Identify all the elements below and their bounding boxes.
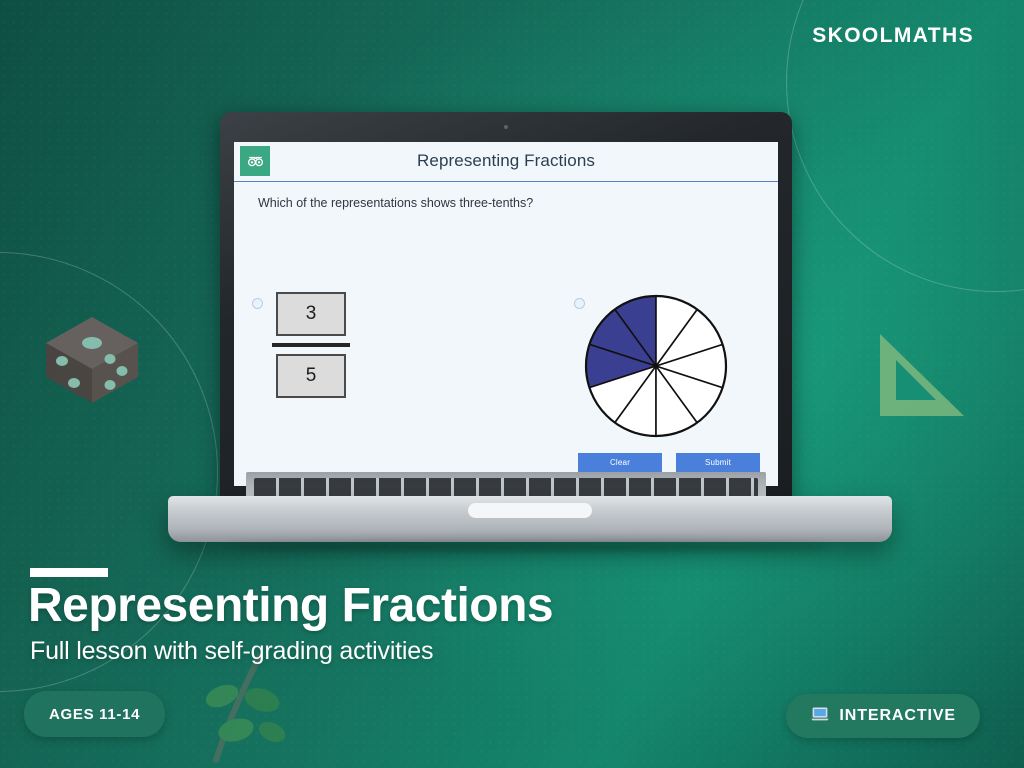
lesson-app: Representing Fractions Which of the repr… — [234, 142, 778, 486]
laptop-device: Representing Fractions Which of the repr… — [168, 112, 892, 560]
interactive-badge: INTERACTIVE — [786, 694, 980, 738]
app-header: Representing Fractions — [234, 142, 778, 182]
question-text: Which of the representations shows three… — [234, 182, 778, 210]
interactive-label: INTERACTIVE — [839, 707, 956, 725]
laptop-shadow — [230, 542, 830, 552]
title-accent-bar — [30, 568, 108, 577]
clear-button[interactable]: Clear — [578, 453, 662, 472]
laptop-lid: Representing Fractions Which of the repr… — [220, 112, 792, 502]
page-subtitle: Full lesson with self-grading activities — [30, 637, 433, 666]
app-title: Representing Fractions — [234, 151, 778, 171]
dice-icon — [36, 303, 148, 415]
app-action-buttons: Clear Submit — [578, 453, 760, 472]
laptop-screen: Representing Fractions Which of the repr… — [234, 142, 778, 486]
page-title: Representing Fractions — [28, 578, 553, 633]
fraction-divider-bar — [272, 343, 350, 347]
answer-options: 3 5 Clear Submit — [234, 210, 778, 486]
fraction-denominator-box: 5 — [276, 354, 346, 398]
age-range-badge: AGES 11-14 — [24, 691, 165, 737]
option-b-pie-chart[interactable] — [582, 292, 730, 440]
laptop-base-notch — [468, 503, 592, 518]
fraction-numerator-box: 3 — [276, 292, 346, 336]
brand-logo-text: SKOOLMATHS — [812, 24, 974, 48]
age-range-label: AGES 11-14 — [49, 706, 140, 723]
laptop-icon — [810, 704, 830, 729]
option-a-fraction[interactable]: 3 5 — [270, 292, 352, 398]
option-a-radio[interactable] — [252, 298, 263, 309]
laptop-base — [168, 496, 892, 542]
webcam-dot — [504, 125, 508, 129]
submit-button[interactable]: Submit — [676, 453, 760, 472]
